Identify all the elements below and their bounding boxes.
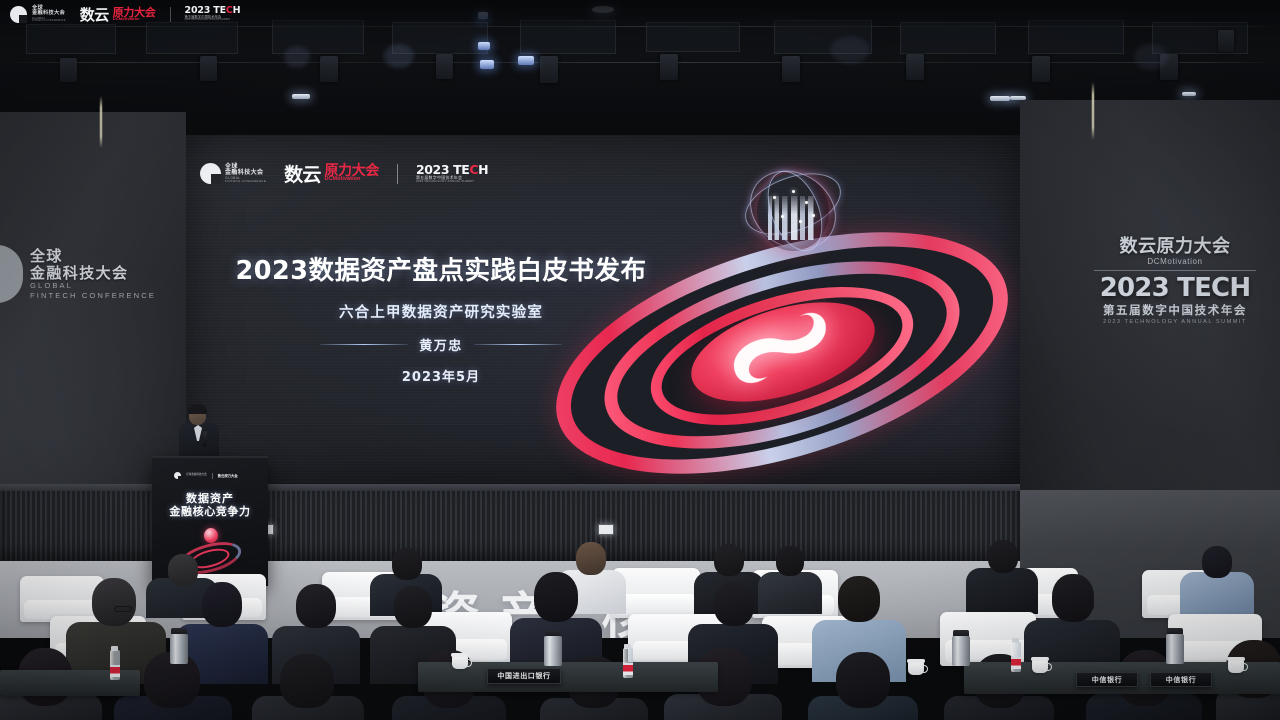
slide-subtitle: 六合上甲数据资产研究实验室 [226, 301, 656, 322]
nameplate-label: 中信银行 [1092, 675, 1122, 685]
tech-c-glyph: C [1211, 273, 1229, 303]
wall-sign-global-fintech: 全球 金融科技大会 GLOBAL FINTECH CONFERENCE [0, 228, 170, 320]
fintech-mark-icon [174, 472, 181, 479]
microphone-icon [203, 431, 207, 447]
wall-sign-en-line1: GLOBAL [30, 282, 156, 291]
thermos-flask [952, 630, 970, 666]
tea-cup [1228, 660, 1244, 673]
wall-sign-right-year-tech: 2023 TECH [1086, 275, 1264, 301]
water-bottle [109, 646, 120, 680]
screen-logo-bar: 全球 金融科技大会 GLOBAL FINTECH CONFERENCE 数云 原… [200, 160, 488, 187]
stage-light [436, 54, 453, 79]
podium-headline-2: 金融核心竞争力 [152, 503, 268, 519]
wall-sign-en-line2: FINTECH CONFERENCE [30, 292, 156, 301]
thermos-flask [1166, 628, 1184, 664]
stage-light [540, 56, 558, 83]
stage-light [518, 56, 534, 65]
overlay-tech-c: C [226, 5, 233, 16]
podium-logo-bar: 全球金融科技大会 数云原力大会 [174, 472, 238, 479]
wall-sign-cn-line1: 全球 [30, 248, 156, 265]
podium-logo-cn: 全球金融科技大会 [186, 474, 207, 477]
stage-light-on [292, 94, 310, 99]
nameplate-label: 中国进出口银行 [497, 671, 550, 681]
wall-sign-right-cn-sub: 第五届数字中国技术年会 [1086, 302, 1264, 318]
fintech-mark-icon [200, 163, 221, 184]
audience-area: 中国进出口银行 中信银行 中信银行 [0, 520, 1280, 720]
audience-member [1180, 546, 1254, 614]
eyeglasses-icon [114, 606, 132, 612]
slide-date: 2023年5月 [226, 366, 656, 385]
conference-stage-photo: 全球 金融科技大会 GLOBAL FINTECH CONFERENCE 数云原力… [0, 0, 1280, 720]
logo-divider [397, 164, 398, 184]
audience-member-front [252, 654, 364, 720]
screen-tech-sub-en: 2023 TECHNOLOGY ANNUAL SUMMIT [416, 180, 488, 183]
wall-sign-right-cn-title: 数云原力大会 [1086, 232, 1264, 258]
fintech-mark-icon [0, 245, 23, 303]
screen-logo-gftc: 全球 金融科技大会 GLOBAL FINTECH CONFERENCE [200, 163, 266, 184]
stage-light [1218, 30, 1234, 52]
stage-light [480, 60, 494, 69]
stage-light [320, 56, 338, 82]
overlay-tech-h: H [233, 5, 241, 16]
stage-light [660, 54, 678, 80]
year-tech-text: 2023 TE [1100, 273, 1211, 303]
divider-right [474, 344, 562, 345]
stage-light-on [990, 96, 1010, 101]
stage-light [1032, 56, 1050, 82]
stage-light [782, 56, 800, 82]
speaker-at-podium [176, 406, 222, 462]
screen-logo-dcm: 数云 原力大会 DCMotivation [284, 160, 379, 187]
tea-cup [1032, 660, 1048, 673]
table-nameplate: 中信银行 [1150, 672, 1212, 687]
screen-tech-main-c: C [469, 162, 478, 177]
thermos-flask [170, 628, 188, 664]
screen-gftc-en2: FINTECH CONFERENCE [225, 180, 266, 183]
overlay-gftc-en2: FINTECH CONFERENCE [32, 20, 66, 23]
podium-logo-dcm: 数云原力大会 [218, 473, 238, 478]
overlay-dcm-symbol: 数云 [80, 4, 109, 25]
stage-light [906, 54, 924, 80]
stage-light [60, 58, 77, 82]
overlay-divider [170, 7, 171, 22]
wall-sign-dcmotivation: 数云原力大会 DCMotivation 2023 TECH 第五届数字中国技术年… [1086, 232, 1264, 325]
screen-tech-main-h: H [478, 162, 488, 177]
table-nameplate: 中国进出口银行 [487, 668, 561, 684]
tech-h-glyph: H [1229, 273, 1250, 303]
overlay-logo-gftc: 全球 金融科技大会 GLOBAL FINTECH CONFERENCE [10, 6, 66, 23]
fintech-mark-icon [10, 6, 27, 23]
screen-dcm-symbol: 数云 [284, 160, 320, 187]
wall-light-strip-right [1092, 82, 1094, 140]
tea-cup [908, 662, 924, 675]
slide-presenter-name: 黄万忠 [419, 335, 463, 354]
stage-light [200, 56, 217, 81]
eyeglasses-icon [1076, 604, 1094, 610]
screen-logo-tech: 2023 TECH 第五届数字中国技术年会 2023 TECHNOLOGY AN… [416, 164, 488, 184]
stage-light [478, 42, 490, 50]
tea-cup [452, 656, 468, 669]
thermos-flask [544, 630, 562, 666]
led-presentation-screen: 全球 金融科技大会 GLOBAL FINTECH CONFERENCE 数云 原… [186, 135, 1020, 485]
wall-light-strip-left [100, 96, 102, 148]
wall-sign-right-en-sub: 2023 TECHNOLOGY ANNUAL SUMMIT [1086, 319, 1264, 325]
overlay-tech-en: 2023 TECHNOLOGY ANNUAL SUMMIT [185, 19, 241, 21]
audience-member-front [808, 652, 918, 720]
wall-sign-right-en-title: DCMotivation [1086, 257, 1264, 266]
slide-title: 2023数据资产盘点实践白皮书发布 [226, 250, 656, 287]
slide-text-block: 2023数据资产盘点实践白皮书发布 六合上甲数据资产研究实验室 黄万忠 2023… [226, 250, 656, 385]
stage-light-on [1182, 92, 1196, 96]
overlay-logo-tech: 2023 TECH 第五届数字中国技术年会 2023 TECHNOLOGY AN… [185, 6, 241, 21]
water-bottle [622, 644, 633, 678]
table-nameplate: 中信银行 [1076, 672, 1138, 687]
broadcast-overlay-bar: 全球 金融科技大会 GLOBAL FINTECH CONFERENCE 数云 原… [0, 0, 1280, 28]
orbiting-sphere [743, 163, 843, 263]
wall-sign-cn-line2: 金融科技大会 [30, 265, 156, 282]
overlay-logo-dcm: 数云 原力大会 DCMotivation [80, 4, 156, 25]
water-bottle [1010, 638, 1021, 672]
nameplate-label: 中信银行 [1166, 675, 1196, 685]
divider [1094, 270, 1256, 271]
divider-left [320, 344, 408, 345]
